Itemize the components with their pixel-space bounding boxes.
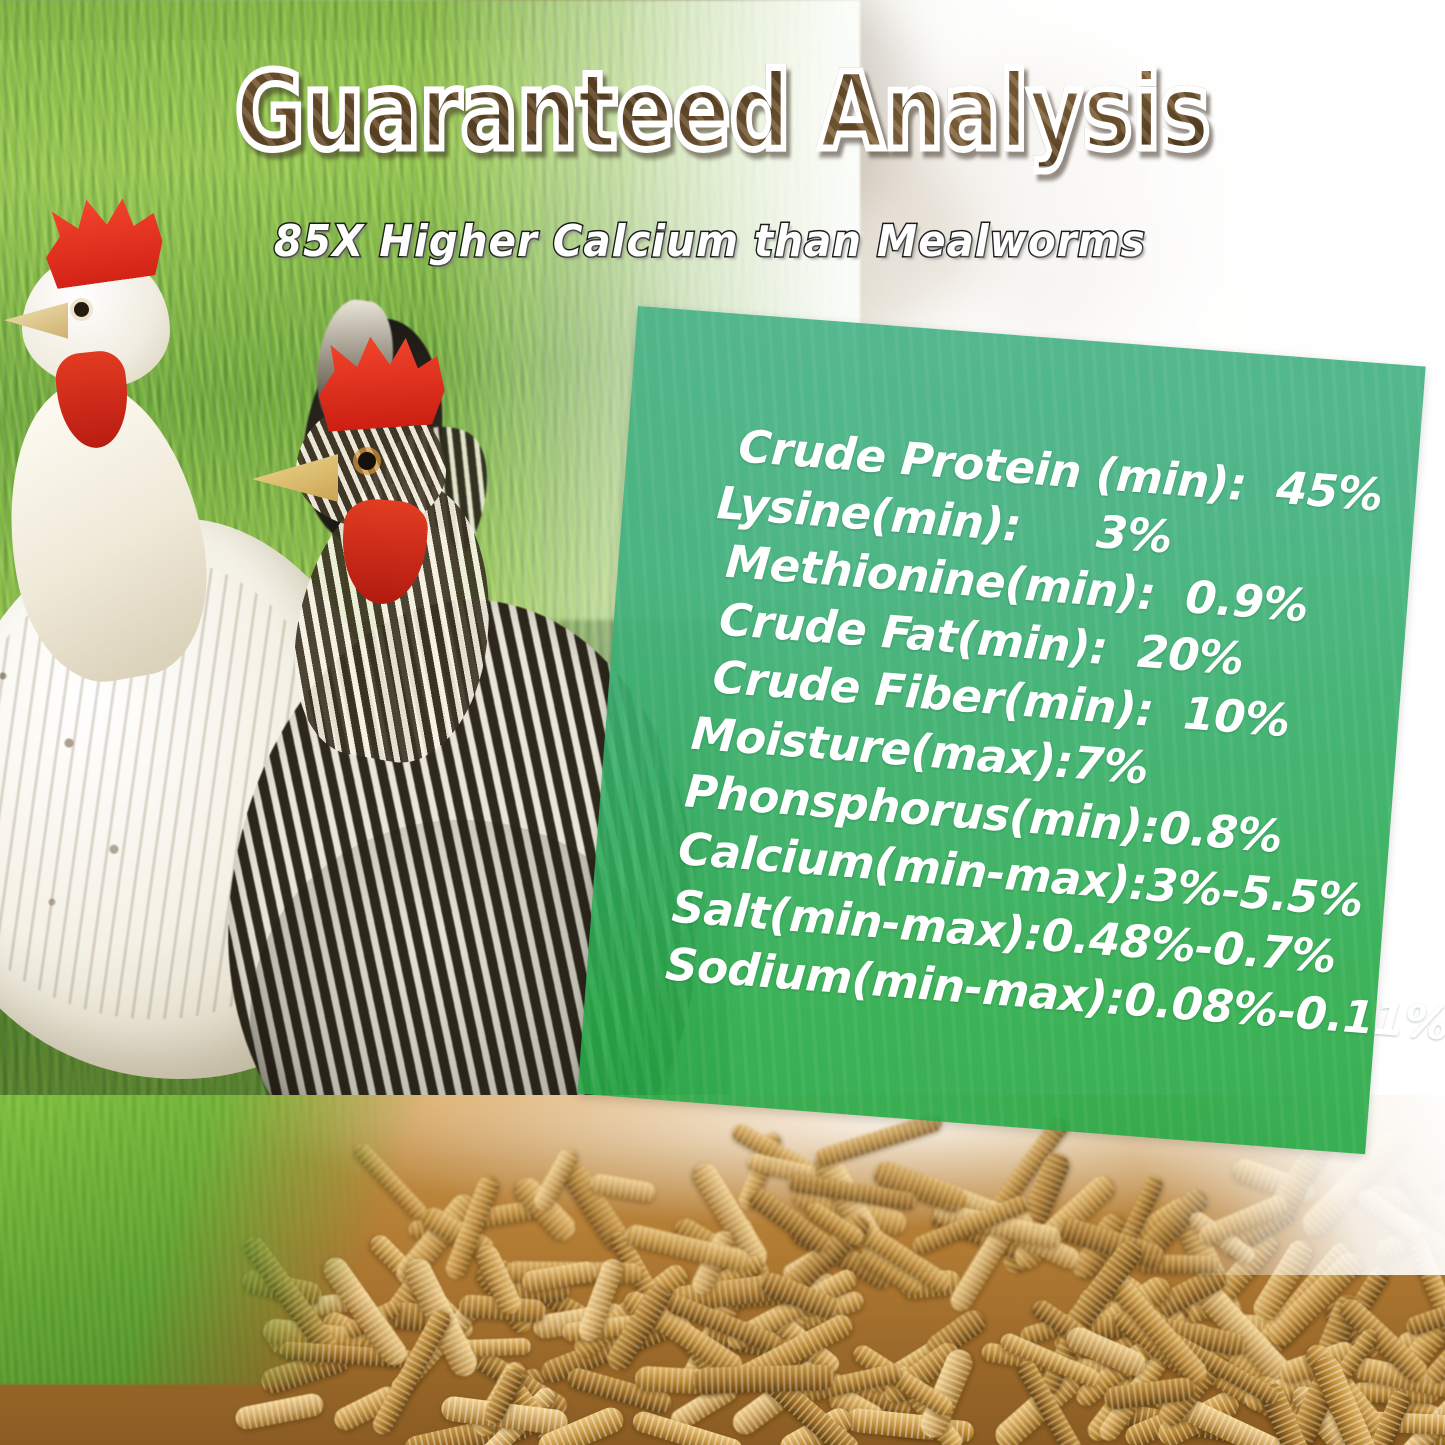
larva [693, 1364, 835, 1394]
larvae-grass-overlap [0, 1095, 450, 1385]
barred-hen-eye [358, 452, 376, 470]
page-title-container: Guaranteed Analysis [0, 58, 1445, 166]
product-infographic: Crude Protein (min): 45% Lysine(min): 3%… [0, 0, 1445, 1445]
white-hen-eye [74, 302, 89, 317]
guaranteed-analysis-list: Crude Protein (min): 45% Lysine(min): 3%… [587, 306, 1445, 1165]
page-title: Guaranteed Analysis [235, 58, 1210, 166]
page-subtitle: 85X Higher Calcium than Mealworms [274, 216, 1146, 267]
page-subtitle-container: 85X Higher Calcium than Mealworms [0, 216, 1445, 267]
